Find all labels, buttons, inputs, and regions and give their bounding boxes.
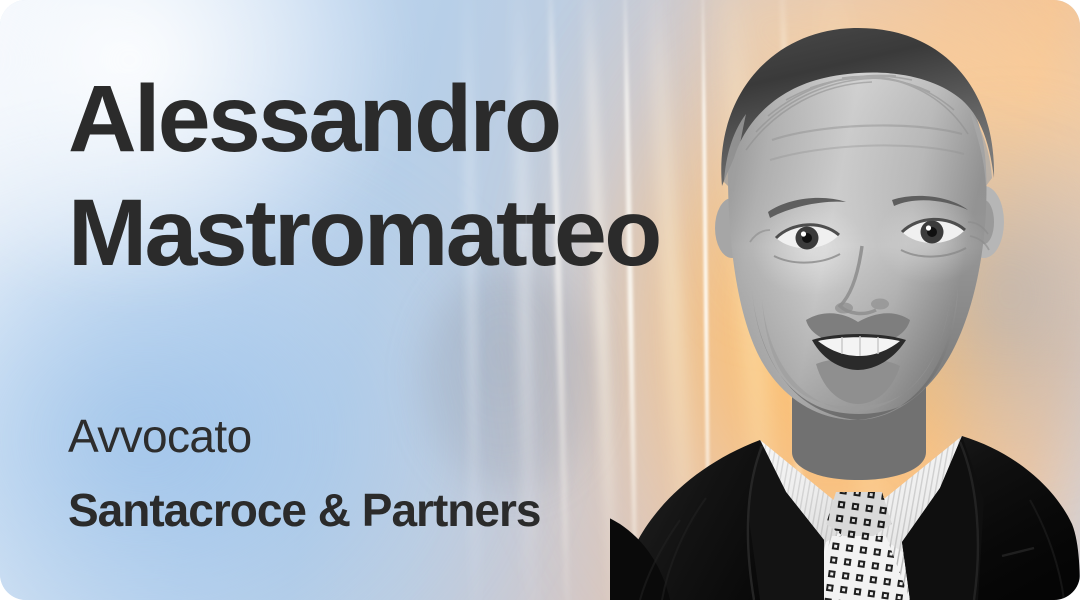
speaker-name: Alessandro Mastromatteo: [68, 62, 660, 290]
speaker-role: Avvocato: [68, 410, 252, 462]
portrait-illustration: [610, 0, 1080, 600]
speaker-organization: Santacroce & Partners: [68, 484, 540, 536]
speaker-portrait: [610, 0, 1080, 600]
speaker-card: Alessandro Mastromatteo Avvocato Santacr…: [0, 0, 1080, 600]
